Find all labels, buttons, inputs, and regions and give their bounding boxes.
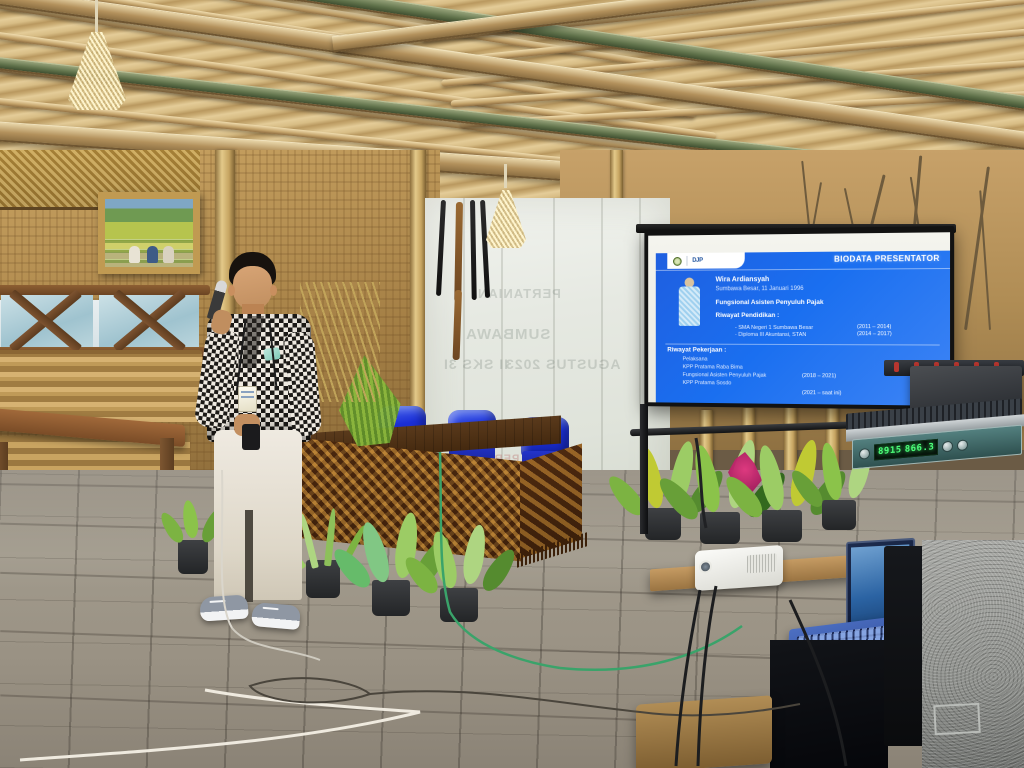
slide-divider-mid — [665, 344, 939, 346]
receiver-display: 8915 866.3 — [874, 439, 938, 461]
photo-scene: ENKAPI KTGOY ODE AGE PERTANIAN SUMBAWA I… — [0, 0, 1024, 768]
slide-header-title: BIODATA PRESENTATOR — [834, 254, 940, 264]
backdrop-ghost-4: SUMBAWA — [465, 326, 550, 343]
backdrop-ghost-1: AGUSTUS 2023 — [505, 356, 620, 372]
slide-work-3-period: (2021 – saat ini) — [802, 390, 841, 396]
slide-education-heading: Riwayat Pendidikan : — [716, 312, 780, 319]
logo-divider — [686, 256, 687, 266]
projector — [695, 545, 783, 591]
projector-lens-icon — [699, 560, 712, 574]
djp-logo-icon: DJP — [692, 258, 702, 264]
mixer-display-left: 8915 — [878, 445, 902, 457]
id-badge — [238, 386, 257, 412]
slide-logo-tab: DJP — [667, 252, 744, 268]
trousers — [214, 430, 302, 600]
bamboo-post — [410, 150, 426, 450]
slide-work-heading: Riwayat Pekerjaan : — [667, 346, 726, 353]
slide-work-3: KPP Pratama Sosdo — [683, 380, 732, 386]
slide-work-2-period: (2018 – 2021) — [802, 373, 836, 379]
smartphone — [242, 424, 260, 450]
ear-right — [270, 285, 277, 296]
slide-education-1-period: (2014 – 2017) — [857, 331, 892, 337]
slide-presenter-photo — [677, 278, 702, 329]
mixer-display-right: 866.3 — [905, 442, 935, 455]
rice-terrace-painting — [98, 192, 200, 274]
speaker-corner-bracket — [933, 703, 981, 735]
slide-education-0-period: (2011 – 2014) — [857, 324, 891, 330]
wooden-stool — [636, 695, 772, 768]
pa-speaker — [922, 540, 1024, 768]
slide-work-1: KPP Pratama Raba Bima — [683, 364, 743, 370]
receiver-knob-1[interactable] — [859, 447, 870, 459]
slide-birth: Sumbawa Besar, 11 Januari 1996 — [716, 286, 804, 292]
screen-stand-pole — [640, 404, 648, 534]
projector-vent — [747, 553, 777, 573]
audio-rack: 8915 866.3 — [846, 360, 1024, 490]
slide-work-0: Pelaksana — [683, 356, 708, 362]
receiver-knob-2[interactable] — [942, 440, 953, 452]
slide-education-0: - SMA Negeri 1 Sumbawa Besar — [735, 325, 813, 331]
presenter — [196, 252, 326, 652]
slide-work-2: Fungsional Asisten Penyuluh Pajak — [683, 372, 767, 379]
kemenkeu-logo-icon — [673, 256, 682, 265]
slide-person-name: Wira Ardiansyah — [716, 276, 770, 283]
bamboo-x-railing — [0, 285, 210, 360]
receiver-knob-3[interactable] — [957, 439, 968, 451]
ear-left — [228, 285, 235, 296]
shoe-right — [251, 602, 301, 630]
leg-gap — [245, 510, 253, 602]
shoe-left — [199, 594, 249, 621]
slide-education-1: - Diploma III Akuntansi, STAN — [735, 332, 806, 338]
dark-equipment-box — [770, 640, 888, 768]
slide-position: Fungsional Asisten Penyuluh Pajak — [716, 299, 824, 306]
